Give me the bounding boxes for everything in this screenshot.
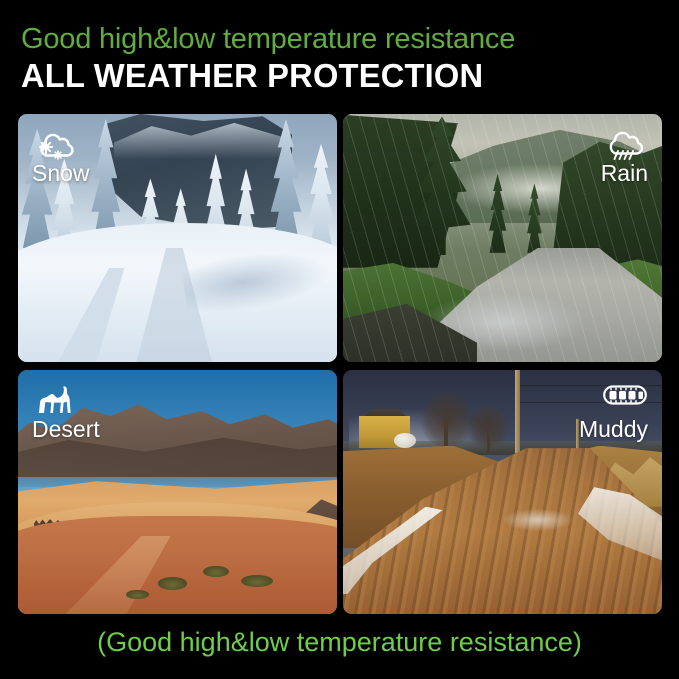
snow-cloud-icon [32,126,76,160]
panel-muddy: Muddy [343,370,662,614]
panel-label-text-snow: Snow [32,161,90,185]
header-subheadline: Good high&low temperature resistance [21,22,679,56]
panel-label-rain: Rain [601,126,648,185]
product-feature-banner: Good high&low temperature resistance ALL… [0,0,679,679]
panel-label-text-rain: Rain [601,161,648,185]
panel-label-text-desert: Desert [32,417,100,441]
footer-caption: (Good high&low temperature resistance) [0,626,679,658]
weather-panel-grid: Snow [18,114,662,614]
panel-label-desert: Desert [32,382,100,441]
panel-label-snow: Snow [32,126,90,185]
page-title: ALL WEATHER PROTECTION [21,57,672,95]
header: Good high&low temperature resistance ALL… [0,0,679,95]
panel-desert: Desert [18,370,337,614]
rain-cloud-icon [604,126,648,160]
panel-label-text-muddy: Muddy [579,417,648,441]
panel-rain: Rain [343,114,662,362]
panel-snow: Snow [18,114,337,362]
tire-tread-icon [602,382,648,416]
panel-label-muddy: Muddy [579,382,648,441]
camel-icon [32,382,76,416]
